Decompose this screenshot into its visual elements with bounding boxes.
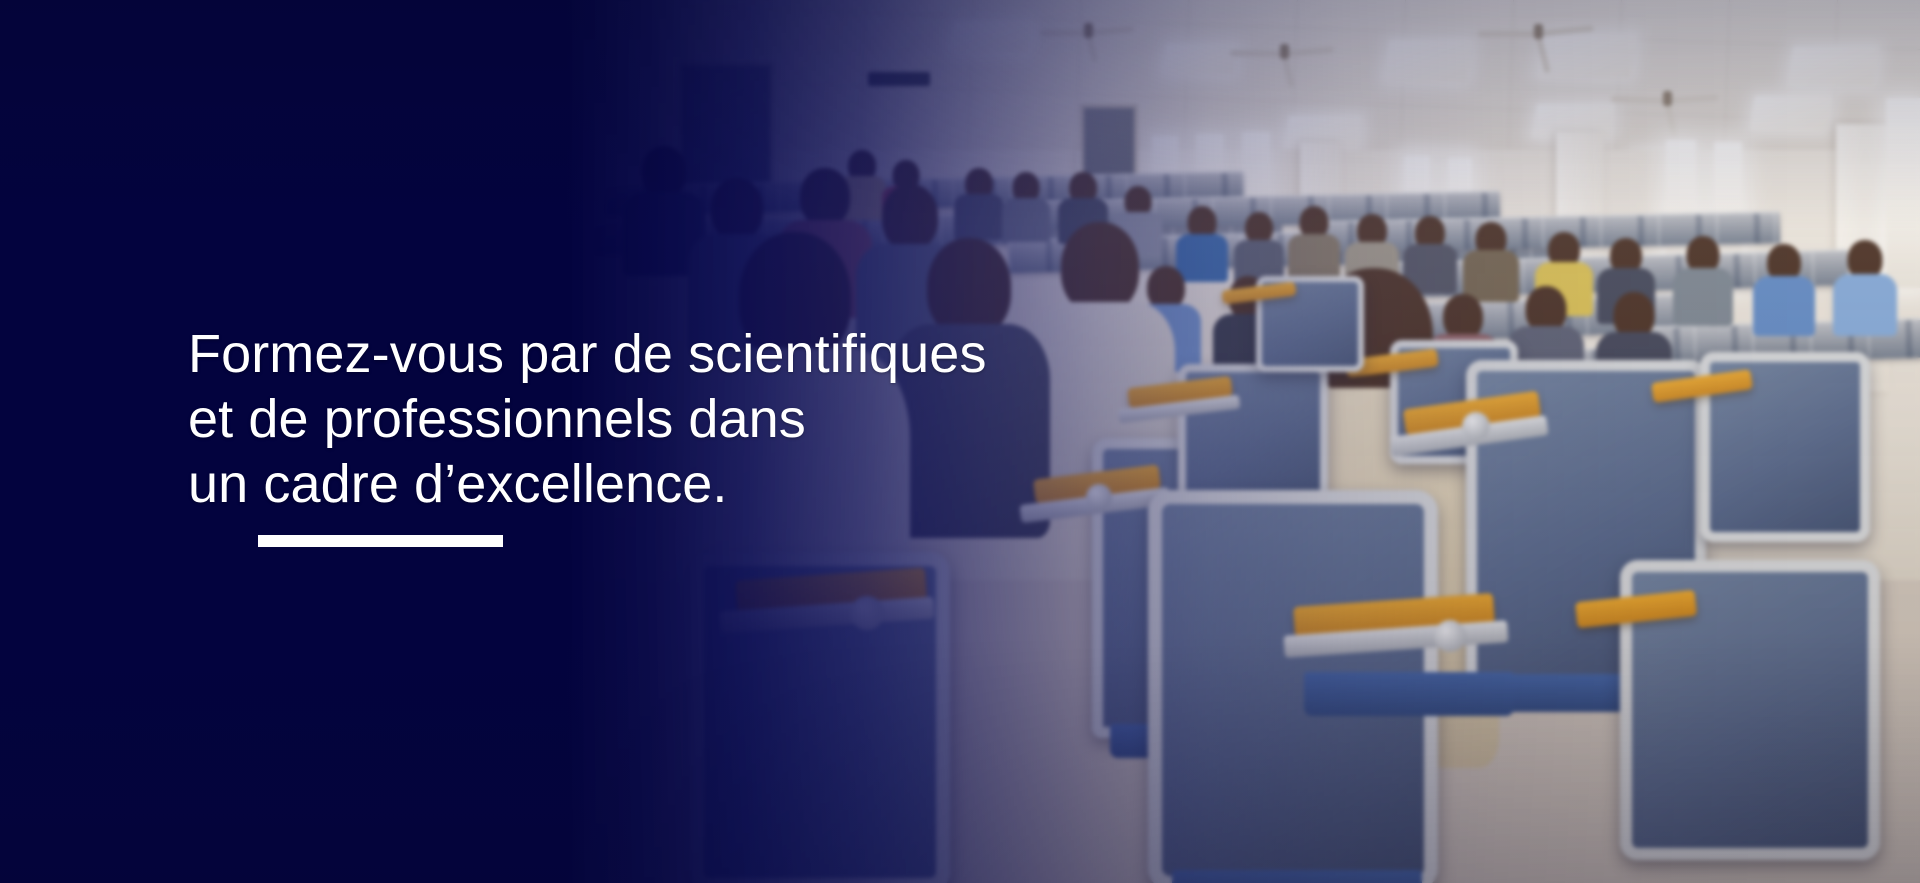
audience-member xyxy=(1756,244,1812,336)
ceiling-fan xyxy=(1478,16,1598,46)
audience-member xyxy=(1676,236,1730,326)
auditorium-chair xyxy=(1620,560,1880,860)
ceiling-light-panel xyxy=(1162,44,1239,74)
headline-line-3: un cadre d’excellence. xyxy=(188,452,1188,517)
auditorium-chair-foreground xyxy=(1294,600,1524,883)
audience-member xyxy=(956,168,1002,240)
page-title: Formez-vous par de scientifiques et de p… xyxy=(188,322,1188,517)
hero-copy: Formez-vous par de scientifiques et de p… xyxy=(188,322,1188,547)
hero-banner: Formez-vous par de scientifiques et de p… xyxy=(0,0,1920,883)
headline-line-2: et de professionnels dans xyxy=(188,387,1188,452)
headline-line-1: Formez-vous par de scientifiques xyxy=(188,322,1188,387)
accent-underline-bar xyxy=(258,535,503,547)
ceiling-fan xyxy=(1040,18,1136,42)
ceiling-fan xyxy=(1230,38,1338,64)
auditorium-chair xyxy=(1700,352,1870,542)
ceiling-light-panel xyxy=(950,22,1033,52)
ceiling-fan xyxy=(1612,84,1722,112)
ceiling-light-panel xyxy=(1749,96,1832,130)
audience-member xyxy=(1466,222,1516,302)
audience-member xyxy=(1836,240,1894,336)
auditorium-chair-foreground xyxy=(690,552,950,883)
exit-sign xyxy=(868,72,930,86)
ceiling-light-panel xyxy=(1383,40,1474,82)
auditorium-chair xyxy=(1256,276,1364,372)
ceiling-light-panel xyxy=(1787,46,1879,86)
